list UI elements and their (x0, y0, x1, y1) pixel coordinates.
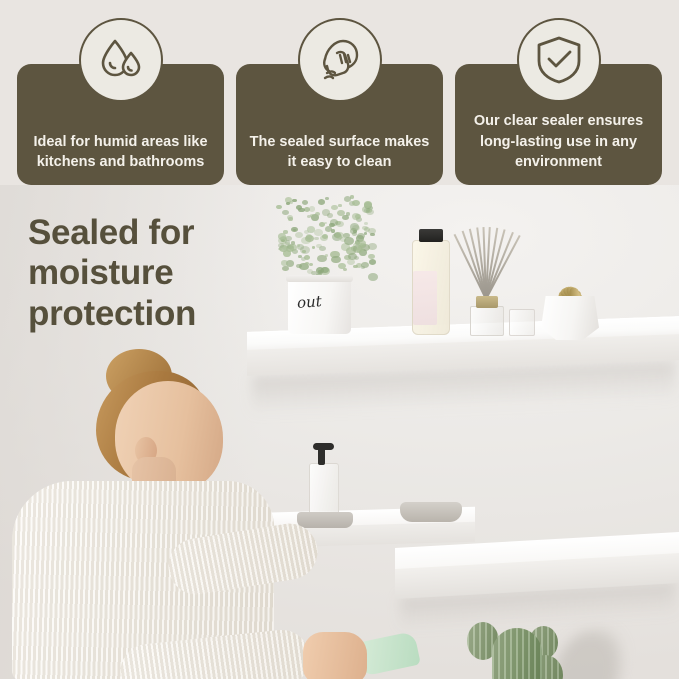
small-glass-jar (509, 309, 535, 336)
diffuser-collar (476, 296, 498, 308)
potted-greenery-foliage (268, 195, 378, 283)
greenery-pot-rim (286, 275, 353, 282)
cactus-main-body (492, 628, 542, 679)
feature-card-humid-areas: Ideal for humid areas like kitchens and … (17, 64, 224, 185)
diffuser-reeds (455, 227, 525, 299)
ceramic-tray-right (400, 502, 462, 522)
girl-hand-upper (303, 632, 367, 679)
feature-card-label: The sealed surface makes it easy to clea… (246, 132, 433, 173)
feature-card-list: Ideal for humid areas like kitchens and … (17, 64, 662, 185)
amber-bottle-label (413, 271, 437, 325)
pot-script-text: out (296, 292, 322, 312)
feature-card-easy-clean: The sealed surface makes it easy to clea… (236, 64, 443, 185)
hand-wiping-cloth-icon (298, 18, 382, 102)
feature-card-clear-sealer: Our clear sealer ensures long-lasting us… (455, 64, 662, 185)
feature-card-label: Our clear sealer ensures long-lasting us… (465, 111, 652, 173)
geometric-white-pot (541, 296, 599, 340)
feature-card-label: Ideal for humid areas like kitchens and … (27, 132, 214, 173)
amber-bottle-cap (419, 229, 443, 242)
soap-pump-head (313, 443, 334, 450)
ceramic-tray-left (297, 512, 353, 528)
soap-dispenser-body (309, 463, 339, 518)
water-drops-icon (79, 18, 163, 102)
promo-image: out (0, 0, 679, 679)
page-title: Sealed for moisture protection (28, 213, 268, 334)
shield-check-icon (517, 18, 601, 102)
diffuser-jar (470, 306, 504, 336)
